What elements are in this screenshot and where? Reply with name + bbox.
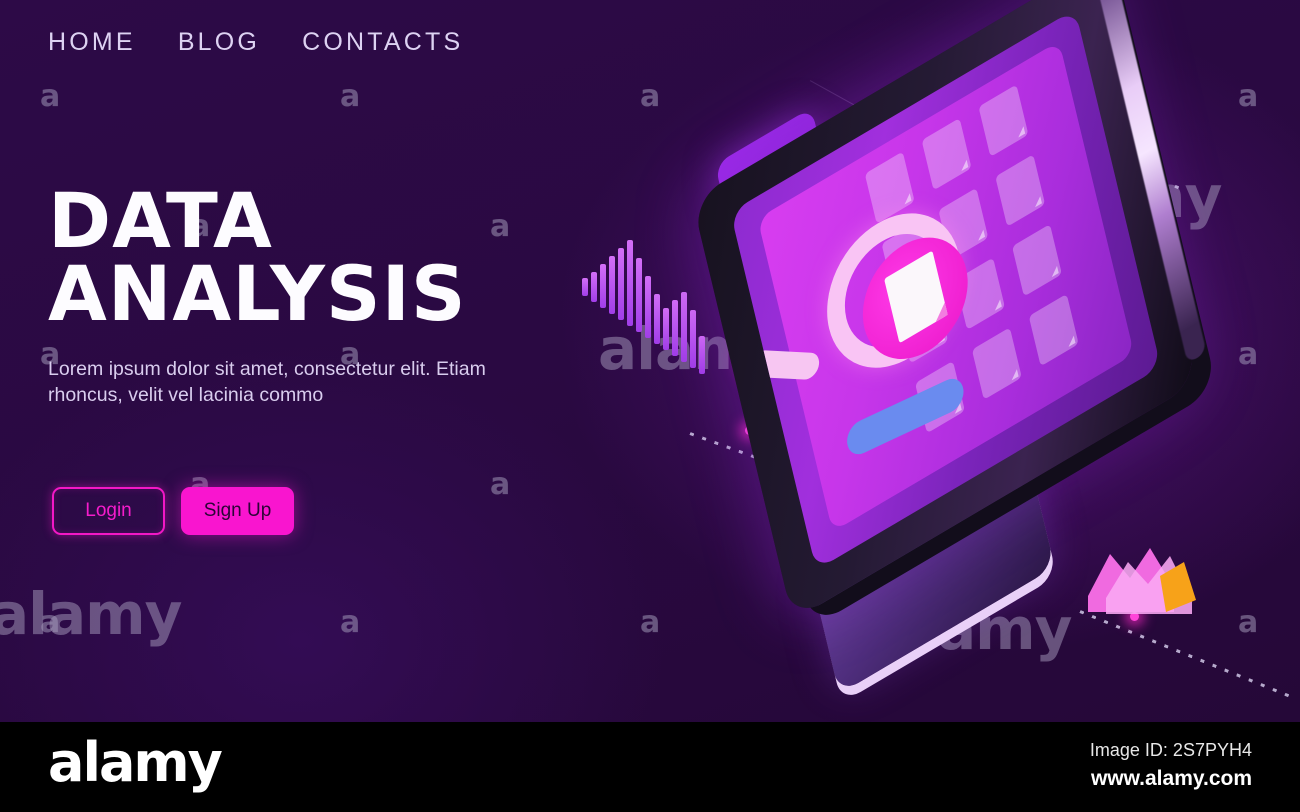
document-card-icon[interactable] — [922, 118, 972, 190]
alamy-footer-bar: alamy Image ID: 2S7PYH4 www.alamy.com — [0, 722, 1300, 812]
magnifier-handle — [747, 350, 822, 380]
main-navigation: HOME BLOG CONTACTS — [48, 28, 463, 57]
hero-subcopy: Lorem ipsum dolor sit amet, consectetur … — [48, 357, 488, 408]
hero-section: a a a a a a a a a a a a a a a a a a alam… — [0, 0, 1300, 722]
bar-chart-decoration — [582, 250, 717, 370]
mountain-chart-decoration — [1088, 526, 1198, 616]
headline-line-2: ANALYSIS — [48, 258, 518, 331]
watermark-glyph: a — [40, 608, 60, 638]
nav-item-home[interactable]: HOME — [48, 28, 136, 57]
document-icon — [884, 250, 948, 343]
nav-item-contacts[interactable]: CONTACTS — [302, 28, 463, 57]
monitor-screen — [730, 9, 1161, 570]
watermark-glyph: a — [40, 82, 60, 112]
signup-button[interactable]: Sign Up — [181, 487, 294, 535]
watermark-glyph: a — [340, 82, 360, 112]
cta-button-group: Login Sign Up — [52, 487, 294, 535]
document-card-icon[interactable] — [1012, 224, 1062, 296]
alamy-url-label: www.alamy.com — [1091, 767, 1252, 791]
watermark-word: alamy — [0, 585, 181, 643]
document-card-icon[interactable] — [1029, 294, 1079, 366]
watermark-glyph: a — [340, 608, 360, 638]
login-button[interactable]: Login — [52, 487, 165, 535]
screen-content — [757, 41, 1134, 532]
document-card-icon[interactable] — [995, 154, 1045, 226]
hero-copy: DATA ANALYSIS Lorem ipsum dolor sit amet… — [48, 185, 518, 408]
document-card-icon[interactable] — [978, 85, 1028, 157]
alamy-logo: alamy — [48, 736, 221, 790]
page-title: DATA ANALYSIS — [48, 185, 518, 331]
screenshot-root: a a a a a a a a a a a a a a a a a a alam… — [0, 0, 1300, 812]
nav-item-blog[interactable]: BLOG — [178, 28, 260, 57]
isometric-illustration — [560, 40, 1260, 700]
image-id-label: Image ID: 2S7PYH4 — [1090, 740, 1252, 761]
dotted-track — [1079, 610, 1293, 699]
document-card-icon[interactable] — [972, 327, 1022, 399]
watermark-glyph: a — [490, 470, 510, 500]
